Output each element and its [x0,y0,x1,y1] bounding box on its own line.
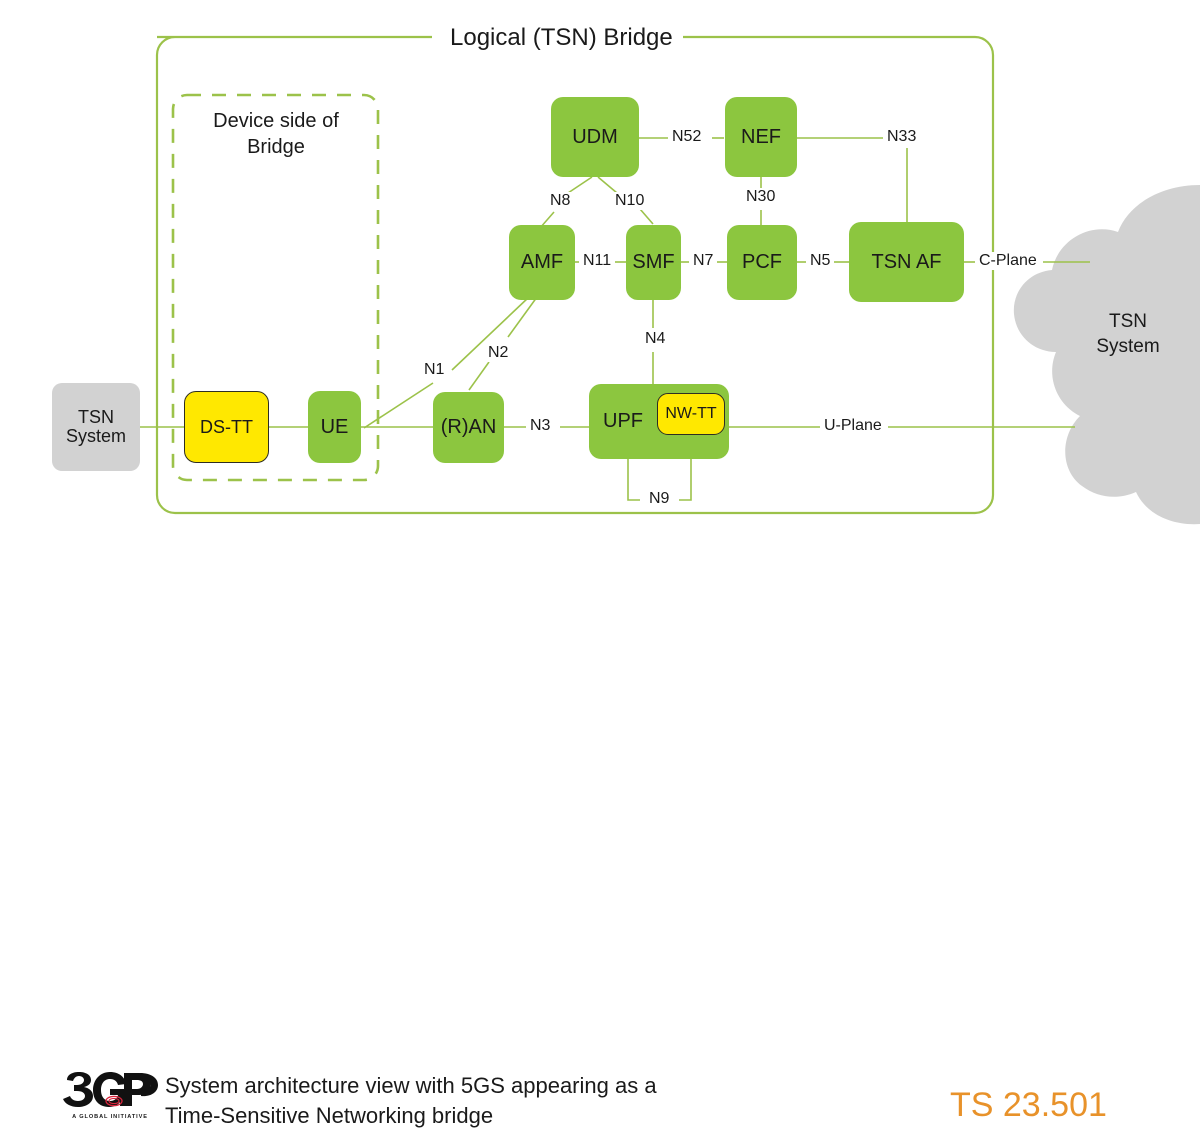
spec-number: TS 23.501 [950,1086,1107,1125]
node-nef-label: NEF [741,127,781,148]
node-udm[interactable]: UDM [551,97,639,177]
node-amf-label: AMF [521,252,563,273]
interface-label-n4: N4 [641,330,669,348]
3gpp-logo: A GLOBAL INITIATIVE [62,1070,158,1122]
node-udm-label: UDM [572,127,618,148]
node-ran-label: (R)AN [441,417,497,438]
node-upf-label: UPF [603,411,643,432]
node-ds-tt[interactable]: DS-TT [184,391,269,463]
tsn-system-left-line2: System [66,427,126,446]
interface-label-c-plane: C-Plane [975,252,1041,270]
link-n1-ue-amf [364,383,433,428]
node-smf-label: SMF [632,252,674,273]
tsn-system-left-line1: TSN [78,408,114,427]
device-side-label-line1: Device side [213,110,316,132]
tsn-system-right-line2: System [1096,336,1159,357]
interface-label-n3: N3 [526,417,554,435]
interface-label-n11: N11 [579,252,615,270]
node-smf[interactable]: SMF [626,225,681,300]
node-pcf[interactable]: PCF [727,225,797,300]
diagram-title: Logical (TSN) Bridge [440,24,683,52]
node-tsn-af[interactable]: TSN AF [849,222,964,302]
interface-label-n9: N9 [645,490,673,508]
node-tsn-system-left: TSN System [52,383,140,471]
link-n9-loop [628,458,640,500]
node-tsn-af-label: TSN AF [871,252,941,273]
node-nw-tt-label: NW-TT [665,406,716,423]
node-ds-tt-label: DS-TT [200,418,253,437]
node-nef[interactable]: NEF [725,97,797,177]
interface-label-n30: N30 [742,188,779,206]
link-n2-ran-amf [469,362,489,390]
link-n9-loop-right [679,458,691,500]
interface-label-n1: N1 [420,361,448,379]
interface-label-u-plane: U-Plane [820,417,886,435]
node-nw-tt[interactable]: NW-TT [657,393,725,435]
interface-label-n52: N52 [668,128,705,146]
node-amf[interactable]: AMF [509,225,575,300]
slide-caption: System architecture view with 5GS appear… [165,1071,865,1130]
interface-label-n10: N10 [611,192,648,210]
footer: A GLOBAL INITIATIVE System architecture … [0,530,1200,642]
tsn-system-right-line1: TSN [1109,311,1147,332]
interface-label-n8: N8 [546,192,574,210]
device-side-group-label: Device side of Bridge [186,108,366,160]
node-ran[interactable]: (R)AN [433,392,504,463]
logo-tagline: A GLOBAL INITIATIVE [72,1114,148,1120]
node-ue-label: UE [321,417,349,438]
interface-label-n2: N2 [484,344,512,362]
node-tsn-system-right: TSN System [1083,310,1173,359]
caption-line-2: Time-Sensitive Networking bridge [165,1101,865,1130]
interface-label-n33: N33 [883,128,920,146]
link-n10-smf [640,209,653,224]
interface-label-n7: N7 [689,252,717,270]
node-pcf-label: PCF [742,252,782,273]
slide-canvas: Logical (TSN) Bridge Device side of Brid… [0,0,1200,642]
node-ue[interactable]: UE [308,391,361,463]
link-udm-n10 [598,177,617,193]
interface-label-n5: N5 [806,252,834,270]
caption-line-1: System architecture view with 5GS appear… [165,1071,865,1101]
